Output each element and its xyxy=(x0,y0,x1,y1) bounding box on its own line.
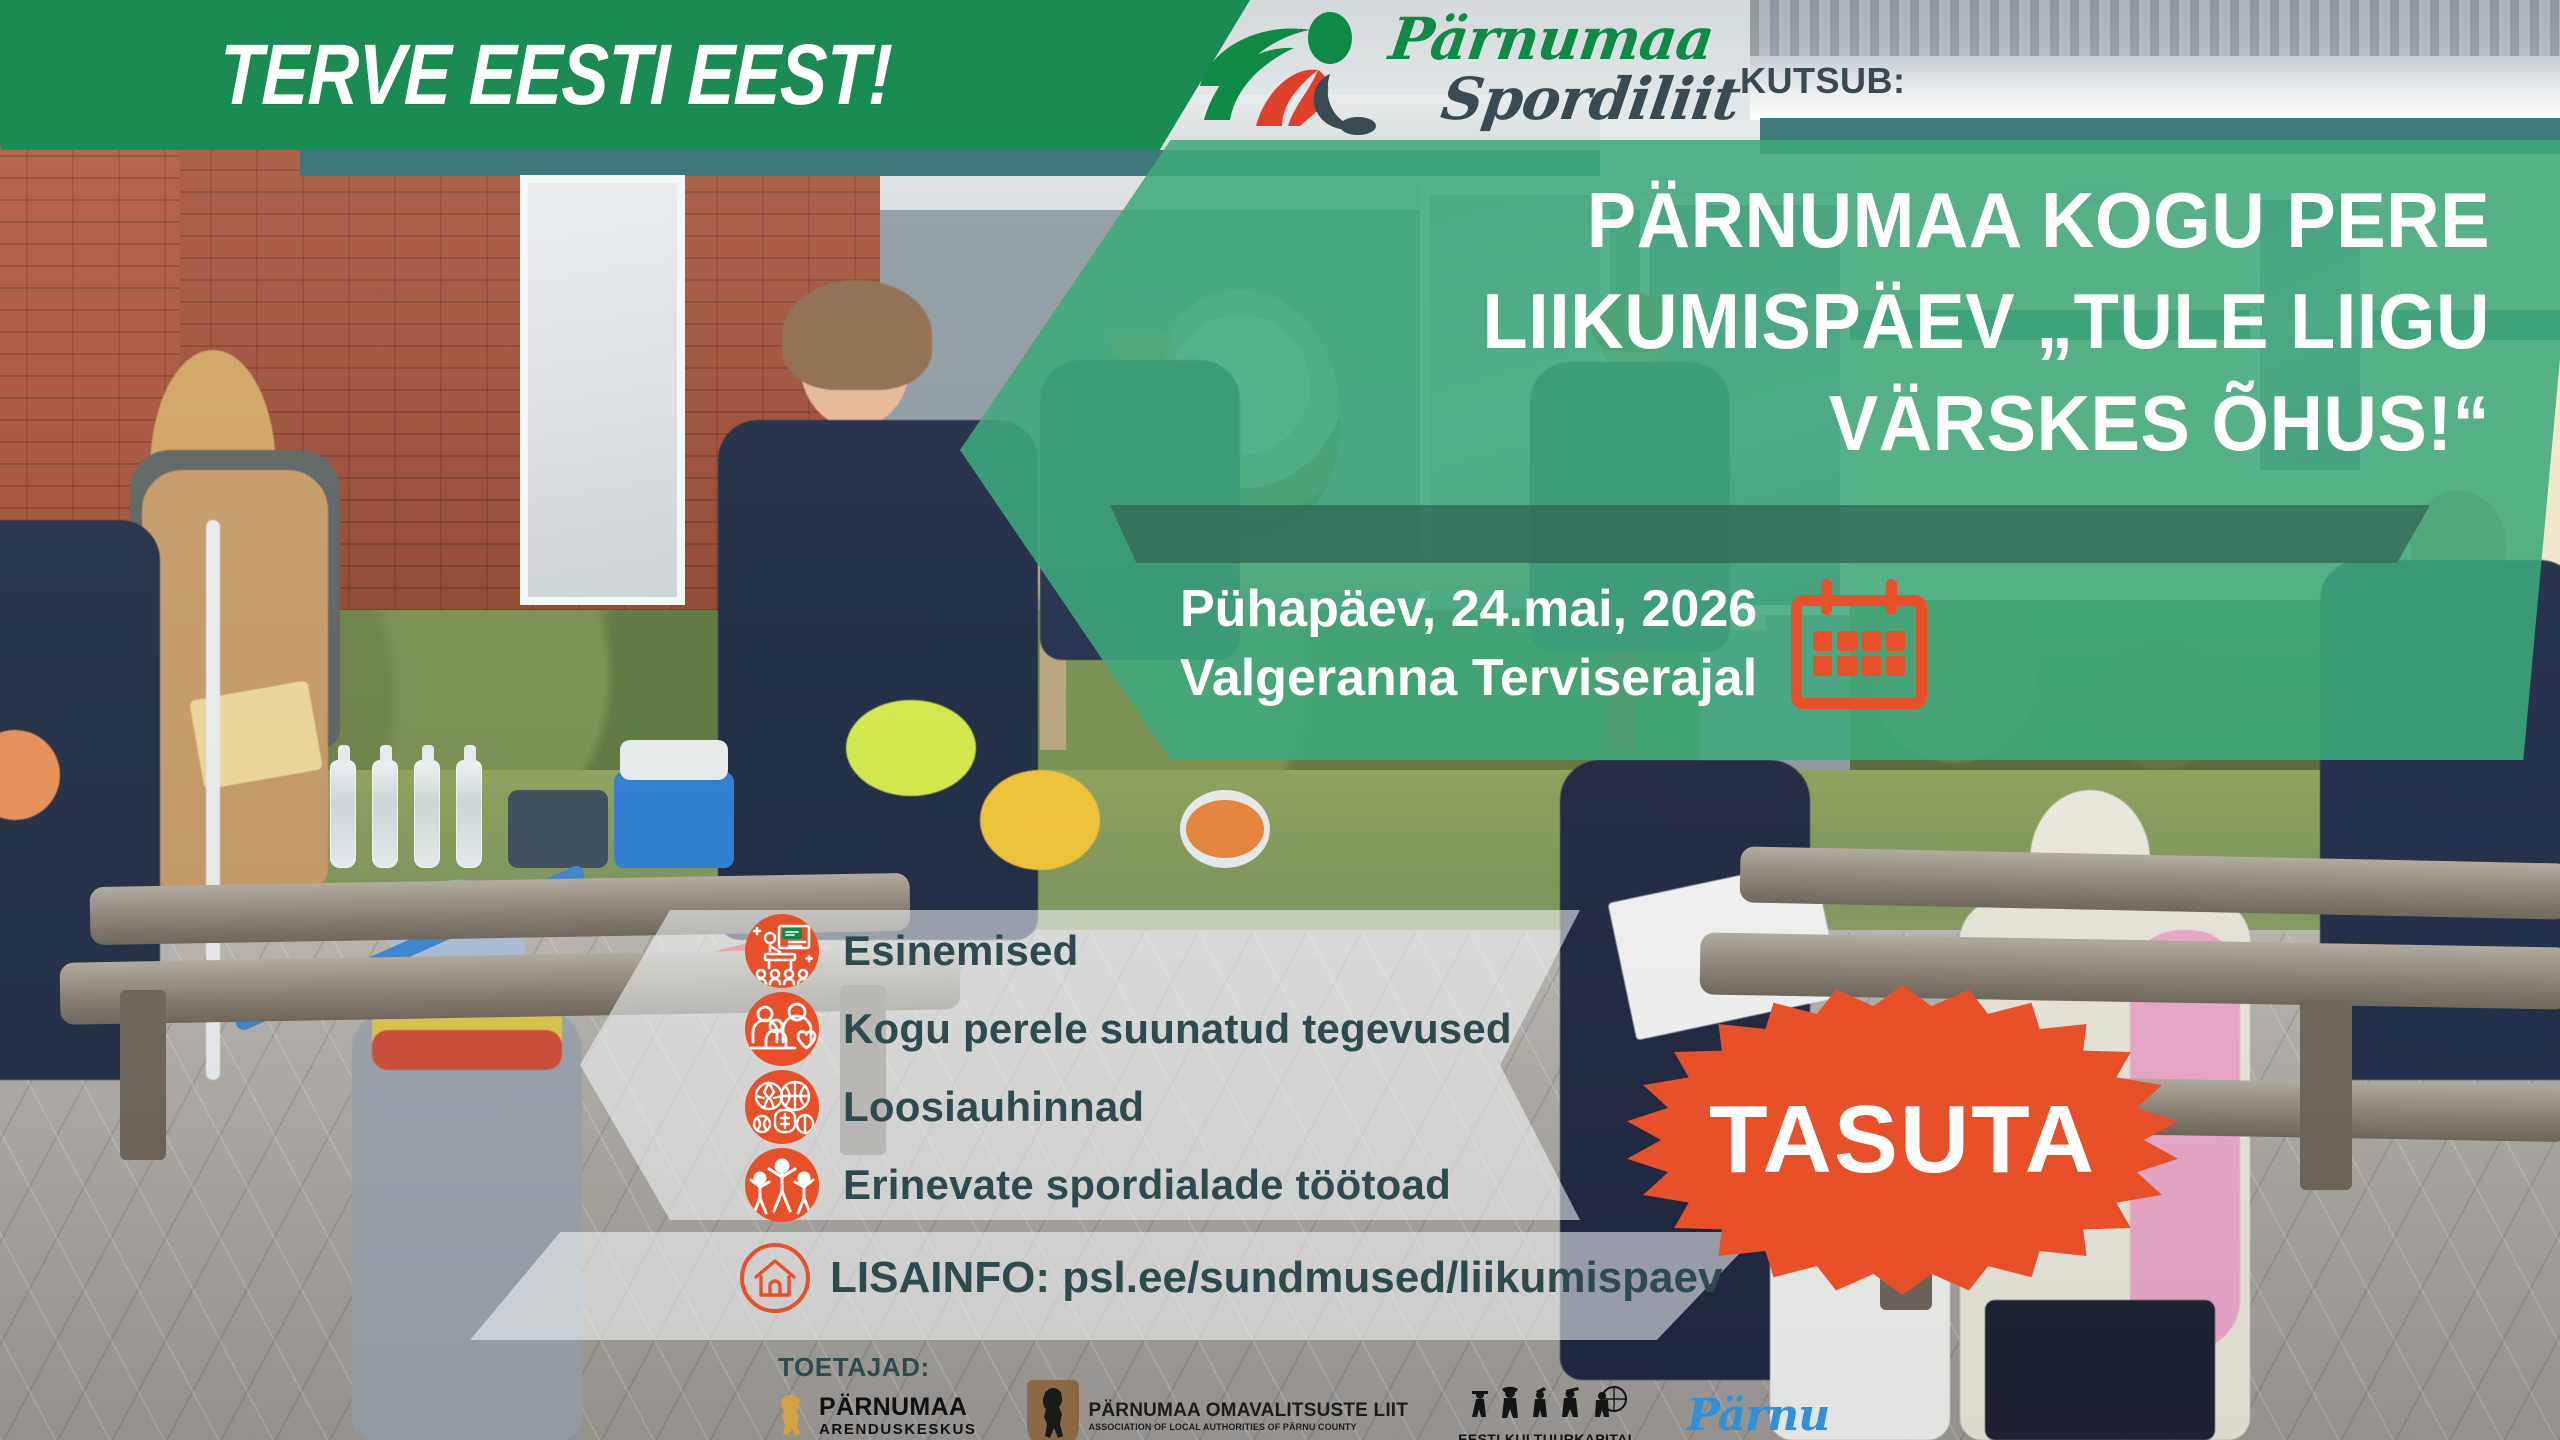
figures-icon xyxy=(1462,1385,1632,1429)
sponsor-name: EESTI KULTUURKAPITAL xyxy=(1458,1431,1637,1440)
title-panel-accent-band xyxy=(1110,505,2430,563)
sponsor-text: PÄRNUMAA OMAVALITSUSTE LIIT ASSOCIATION … xyxy=(1089,1400,1409,1432)
home-icon xyxy=(740,1243,810,1313)
title-line-3: VÄRSKES ÕHUS!“ xyxy=(1132,373,2491,474)
event-datetime-block: Pühapäev, 24.mai, 2026 Valgeranna Tervis… xyxy=(1180,575,2360,712)
calendar-icon xyxy=(1791,579,1927,709)
event-text: Pühapäev, 24.mai, 2026 Valgeranna Tervis… xyxy=(1180,575,1757,712)
sponsor-sub: ARENDUSKESKUS xyxy=(819,1421,977,1438)
title-line-2: LIIKUMISPÄEV „TULE LIIGU xyxy=(1132,271,2491,372)
feature-label: Loosiauhinnad xyxy=(843,1083,1144,1131)
sponsor-item: PÄRNUMAA ARENDUSKESKUS xyxy=(775,1391,977,1440)
campaign-banner-text: TERVE EESTI EEST! xyxy=(218,26,991,125)
logo-line-parnumaa: Pärnumaa xyxy=(1386,10,1743,68)
event-date: Pühapäev, 24.mai, 2026 xyxy=(1180,575,1757,644)
sponsor-sub: ASSOCIATION OF LOCAL AUTHORITIES OF PÄRN… xyxy=(1089,1422,1409,1432)
runner-mark-icon xyxy=(1190,8,1390,136)
sponsor-name: PÄRNUMAA OMAVALITSUSTE LIIT xyxy=(1089,1400,1409,1422)
sponsor-item: Pärnu xyxy=(1687,1394,1830,1438)
feature-label: Esinemised xyxy=(843,927,1078,975)
people-celebrating-icon xyxy=(745,1148,819,1222)
event-location: Valgeranna Terviserajal xyxy=(1180,644,1757,713)
sponsor-item: PÄRNUMAA OMAVALITSUSTE LIIT ASSOCIATION … xyxy=(1027,1380,1409,1440)
spordiliit-wordmark: Pärnumaa Spordiliit xyxy=(1390,10,1739,128)
sports-balls-icon xyxy=(745,1070,819,1144)
feature-label: Kogu perele suunatud tegevused xyxy=(843,1005,1512,1053)
spordiliit-logo: Pärnumaa Spordiliit xyxy=(1190,8,1710,138)
sponsors-label: TOETAJAD: xyxy=(778,1352,930,1383)
invite-label: KUTSUB: xyxy=(1740,60,1905,102)
parnu-wordmark: Pärnu xyxy=(1687,1394,1830,1438)
family-heart-icon xyxy=(745,992,819,1066)
sponsor-item: EESTI KULTUURKAPITAL xyxy=(1458,1385,1637,1440)
badge-text: TASUTA xyxy=(1709,1085,2096,1195)
feature-item: Kogu perele suunatud tegevused xyxy=(745,990,1625,1068)
feature-label: Erinevate spordialade töötoad xyxy=(843,1161,1451,1209)
poster-root: TERVE EESTI EEST! Pärnumaa Spordiliit KU… xyxy=(0,0,2560,1440)
page-title: PÄRNUMAA KOGU PERE LIIKUMISPÄEV „TULE LI… xyxy=(1132,170,2491,474)
info-row[interactable]: LISAINFO: psl.ee/sundmused/liikumispaev xyxy=(740,1243,1722,1313)
campaign-banner: TERVE EESTI EEST! xyxy=(0,0,1250,150)
shield-bear-icon xyxy=(1027,1380,1079,1440)
info-text[interactable]: LISAINFO: psl.ee/sundmused/liikumispaev xyxy=(830,1253,1722,1303)
sponsor-text: PÄRNUMAA ARENDUSKESKUS xyxy=(819,1394,977,1437)
features-list: Esinemised Kogu perele suunatud tegevuse… xyxy=(745,912,1625,1224)
logo-line-spordiliit: Spordiliit xyxy=(1438,70,1743,128)
presentation-icon xyxy=(745,914,819,988)
sponsor-name: PÄRNUMAA xyxy=(819,1394,977,1420)
feature-item: Esinemised xyxy=(745,912,1625,990)
feature-item: Loosiauhinnad xyxy=(745,1068,1625,1146)
sponsor-logos: PÄRNUMAA ARENDUSKESKUS PÄRNUMAA OMAVALIT… xyxy=(775,1380,1829,1440)
feature-item: Erinevate spordialade töötoad xyxy=(745,1146,1625,1224)
bear-icon xyxy=(775,1391,809,1440)
title-line-1: PÄRNUMAA KOGU PERE xyxy=(1132,170,2491,271)
